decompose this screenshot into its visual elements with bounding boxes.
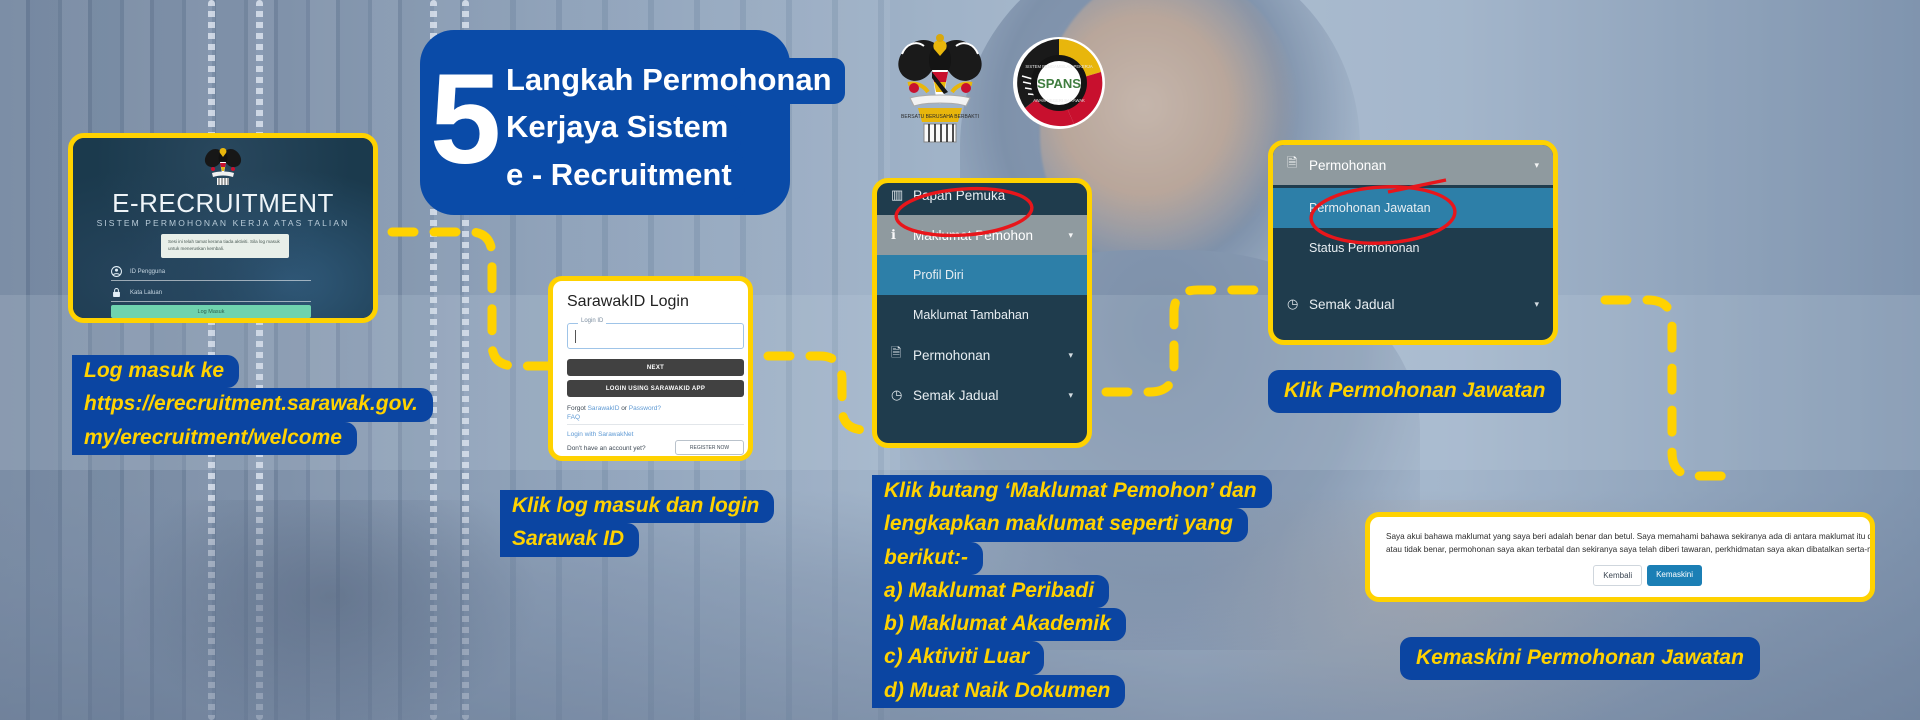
caption-line: b) Maklumat Akademik bbox=[872, 608, 1126, 641]
caption-step-5: Kemaskini Permohonan Jawatan bbox=[1400, 637, 1760, 680]
no-account-label: Don't have an account yet? bbox=[567, 445, 646, 452]
register-now-button[interactable]: REGISTER NOW bbox=[675, 440, 744, 455]
sarawakid-login-screenshot[interactable]: SarawakID Login Login ID NEXT LOGIN USIN… bbox=[548, 276, 753, 461]
svg-text:SISTEM PENGAMBILAN PEKERJA: SISTEM PENGAMBILAN PEKERJA bbox=[1025, 64, 1092, 69]
step-count-number: 5 bbox=[430, 56, 497, 184]
annotation-circle-maklumat-pemohon bbox=[872, 178, 1092, 448]
caption-step-4: Klik Permohonan Jawatan bbox=[1268, 370, 1561, 413]
caption-step-2: Klik log masuk dan login Sarawak ID bbox=[500, 490, 774, 557]
caption-line: my/erecruitment/welcome bbox=[72, 422, 357, 455]
kembali-button[interactable]: Kembali bbox=[1593, 565, 1642, 586]
declaration-text: Saya akui bahawa maklumat yang saya beri… bbox=[1386, 531, 1875, 556]
sarawakid-login-id-input[interactable]: Login ID bbox=[567, 323, 744, 349]
annotation-circle-permohonan-jawatan bbox=[1268, 140, 1558, 345]
spans-logo-icon: SPANS SISTEM PENGAMBILAN PEKERJA AWAM NE… bbox=[1012, 36, 1106, 130]
erecruitment-username-placeholder: ID Pengguna bbox=[130, 269, 165, 275]
erecruitment-subtitle: SISTEM PERMOHONAN KERJA ATAS TALIAN bbox=[73, 218, 373, 228]
caption-line: Log masuk ke bbox=[72, 355, 239, 388]
caption-line: a) Maklumat Peribadi bbox=[872, 575, 1109, 608]
svg-text:AWAM NEGERI SARAWAK: AWAM NEGERI SARAWAK bbox=[1033, 98, 1085, 103]
header-title-line2: Kerjaya Sistem bbox=[498, 105, 741, 151]
sarawak-coat-of-arms-icon: BERSATU BERUSAHA BERBAKTI bbox=[888, 26, 992, 144]
svg-text:SPANS: SPANS bbox=[1037, 76, 1081, 91]
erecruitment-password-field[interactable]: Kata Laluan bbox=[111, 287, 311, 302]
user-icon bbox=[111, 266, 122, 277]
header-title-line1: Langkah Permohonan bbox=[498, 58, 845, 104]
sarawakid-title: SarawakID Login bbox=[567, 293, 689, 311]
caption-line: lengkapkan maklumat seperti yang bbox=[872, 508, 1248, 541]
sarawakid-next-button[interactable]: NEXT bbox=[567, 359, 744, 376]
kemaskini-button[interactable]: Kemaskini bbox=[1647, 565, 1702, 586]
forgot-prefix-label: Forgot bbox=[567, 405, 588, 412]
caption-line: Kemaskini Permohonan Jawatan bbox=[1400, 637, 1760, 680]
forgot-mid-label: or bbox=[619, 405, 628, 412]
erecruitment-password-placeholder: Kata Laluan bbox=[130, 290, 162, 296]
caption-line: Sarawak ID bbox=[500, 523, 639, 556]
erecruitment-username-field[interactable]: ID Pengguna bbox=[111, 266, 311, 281]
sarawakid-app-login-button[interactable]: LOGIN USING SARAWAKID APP bbox=[567, 380, 744, 397]
caption-step-3: Klik butang ‘Maklumat Pemohon’ dan lengk… bbox=[872, 475, 1272, 708]
sarawakid-login-id-label: Login ID bbox=[578, 318, 606, 324]
caption-line: Klik butang ‘Maklumat Pemohon’ dan bbox=[872, 475, 1272, 508]
text-caret bbox=[575, 330, 576, 343]
erecruitment-login-screenshot[interactable]: E-RECRUITMENT SISTEM PERMOHONAN KERJA AT… bbox=[68, 133, 378, 323]
caption-line: Klik Permohonan Jawatan bbox=[1268, 370, 1561, 413]
caption-line: d) Muat Naik Dokumen bbox=[872, 675, 1125, 708]
forgot-sarawakid-link[interactable]: SarawakID bbox=[588, 405, 620, 412]
faq-link[interactable]: FAQ bbox=[567, 414, 580, 421]
caption-line: berikut:- bbox=[872, 542, 983, 575]
sarawaknet-login-link[interactable]: Login with SarawakNet bbox=[567, 431, 633, 438]
caption-step-1: Log masuk ke https://erecruitment.sarawa… bbox=[72, 355, 433, 455]
forgot-password-link[interactable]: Password? bbox=[629, 405, 661, 412]
svg-text:BERSATU BERUSAHA BERBAKTI: BERSATU BERUSAHA BERBAKTI bbox=[901, 114, 979, 120]
poster-canvas: 5 Langkah Permohonan Kerjaya Sistem e - … bbox=[0, 0, 1920, 720]
caption-line: Klik log masuk dan login bbox=[500, 490, 774, 523]
caption-line: https://erecruitment.sarawak.gov. bbox=[72, 388, 433, 421]
header-title-line3: e - Recruitment bbox=[498, 153, 745, 199]
caption-line: c) Aktiviti Luar bbox=[872, 641, 1044, 674]
forgot-credentials-links[interactable]: Forgot SarawakID or Password? bbox=[567, 405, 661, 412]
confirmation-dialog-screenshot[interactable]: Saya akui bahawa maklumat yang saya beri… bbox=[1365, 512, 1875, 602]
divider bbox=[567, 424, 744, 425]
lock-icon bbox=[111, 287, 122, 298]
erecruitment-title: E-RECRUITMENT bbox=[73, 188, 373, 219]
session-expired-alert: Sesi ini telah tamat kerana tiada aktivi… bbox=[161, 234, 289, 258]
erecruitment-crest-icon bbox=[203, 144, 243, 191]
erecruitment-login-button[interactable]: Log Masuk bbox=[111, 305, 311, 318]
